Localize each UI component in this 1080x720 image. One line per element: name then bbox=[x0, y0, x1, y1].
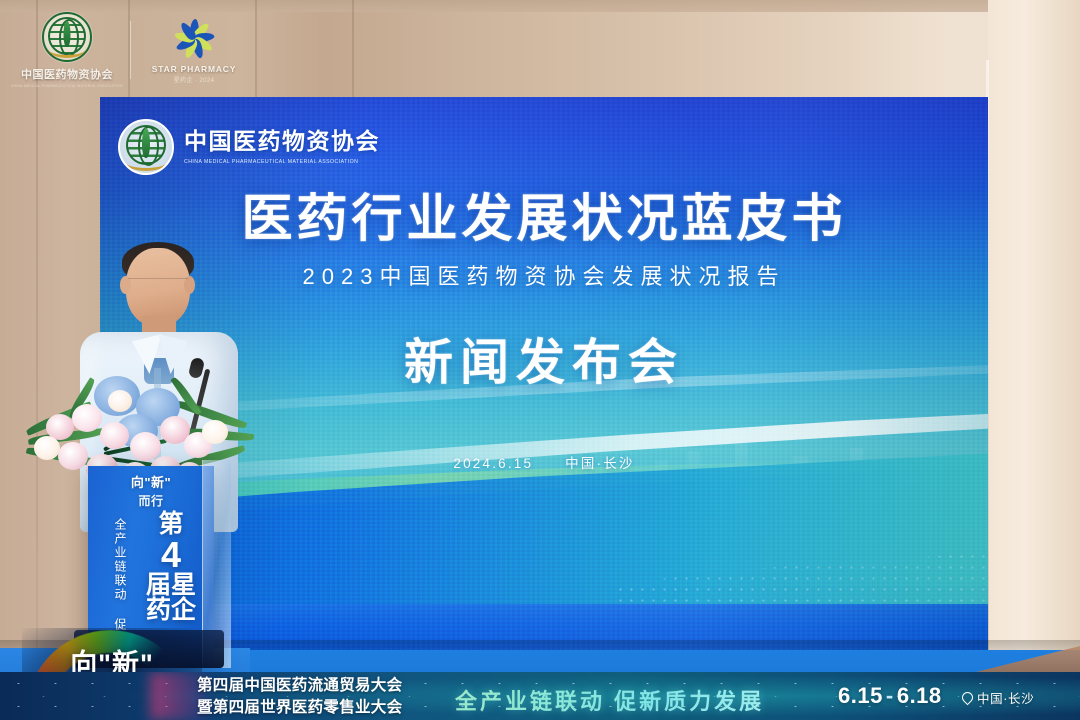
screen-location: 中国·长沙 bbox=[565, 456, 635, 471]
wall-logo-cmpma-en: CHINA MEDICAL PHARMACEUTICAL MATERIAL AS… bbox=[11, 84, 123, 88]
wall-logo-star-cn: 星药企 · 2024 bbox=[174, 75, 215, 84]
wall-logo-cmpma: 中国医药物资协会 CHINA MEDICAL PHARMACEUTICAL MA… bbox=[8, 12, 126, 88]
banner-date-range: 6.15-6.18 bbox=[838, 683, 942, 709]
cmpma-emblem-icon bbox=[42, 12, 92, 62]
screen-date: 2024.6.15 bbox=[453, 456, 533, 471]
wall-logo-row: 中国医药物资协会 CHINA MEDICAL PHARMACEUTICAL MA… bbox=[8, 8, 258, 92]
star-pharmacy-pinwheel-icon bbox=[172, 17, 216, 61]
podium-edition-text: 第 4 届星药企 bbox=[134, 512, 208, 623]
speaker-brow-line bbox=[128, 278, 188, 292]
stage-photo: 中国医药物资协会 CHINA MEDICAL PHARMACEUTICAL MA… bbox=[0, 0, 1080, 720]
banner-date-to: 6.18 bbox=[897, 683, 942, 708]
podium-logo-line1: 向"新" bbox=[131, 475, 171, 490]
screen-org-logo: 中国医药物资协会 CHINA MEDICAL PHARMACEUTICAL MA… bbox=[118, 119, 380, 175]
banner-location: 中国·长沙 bbox=[962, 688, 1034, 707]
banner-slogan: 全产业链联动 促新质力发展 bbox=[455, 684, 764, 716]
cmpma-emblem-icon bbox=[118, 119, 174, 175]
wall-seam bbox=[36, 0, 38, 700]
logo-divider bbox=[130, 21, 131, 79]
venue-wall-right bbox=[988, 0, 1080, 672]
wall-logo-cmpma-cn: 中国医药物资协会 bbox=[21, 66, 113, 82]
banner-date-from: 6.15 bbox=[838, 683, 883, 708]
screen-org-name-cn: 中国医药物资协会 bbox=[184, 129, 380, 154]
screen-org-name-en: CHINA MEDICAL PHARMACEUTICAL MATERIAL AS… bbox=[184, 158, 380, 164]
location-pin-icon bbox=[960, 690, 976, 706]
banner-location-text: 中国·长沙 bbox=[977, 688, 1034, 707]
bottom-banner: 第四届中国医药流通贸易大会 暨第四届世界医药零售业大会 全产业链联动 促新质力发… bbox=[0, 672, 1080, 720]
podium-logo-line2: 而行 bbox=[88, 492, 214, 509]
wall-logo-star-pharmacy: STAR PHARMACY 星药企 · 2024 bbox=[135, 17, 253, 84]
podium-edition-number: 4 bbox=[134, 537, 208, 573]
page-title: 医药行业发展状况蓝皮书 bbox=[100, 193, 988, 244]
podium-edition-suffix: 届星药企 bbox=[146, 571, 196, 624]
banner-line-1: 第四届中国医药流通贸易大会 bbox=[197, 675, 447, 697]
banner-conference-name: 第四届中国医药流通贸易大会 暨第四届世界医药零售业大会 bbox=[197, 675, 447, 719]
wall-logo-star-en: STAR PHARMACY bbox=[152, 64, 236, 74]
podium-logo: 向"新" 而行 bbox=[88, 472, 214, 509]
banner-line-2: 暨第四届世界医药零售业大会 bbox=[197, 697, 447, 719]
